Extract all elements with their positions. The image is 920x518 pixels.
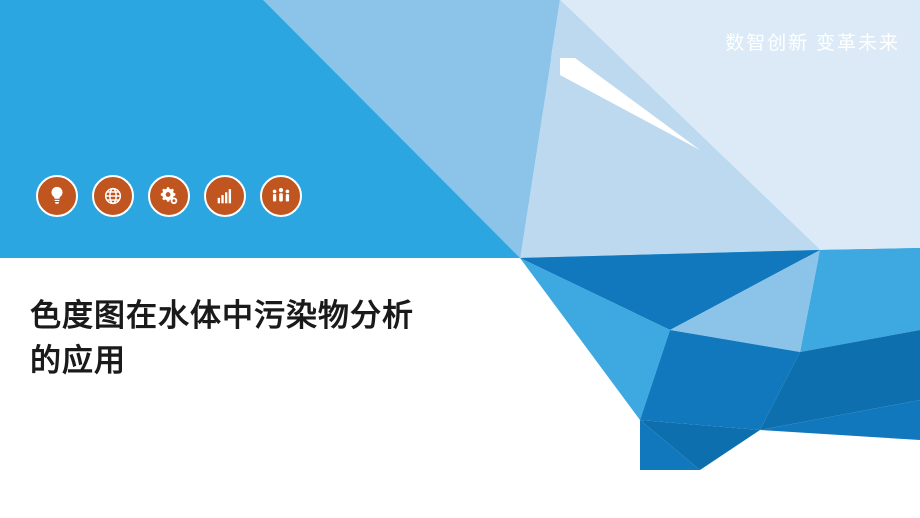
slide-tagline: 数智创新 变革未来 (725, 28, 900, 55)
bottom-strip (0, 514, 920, 518)
page-title-line-1: 色度图在水体中污染物分析 (30, 294, 550, 339)
page-title-line-2: 的应用 (30, 339, 550, 384)
polygon-artwork (0, 0, 920, 518)
globe-icon (92, 175, 134, 217)
gears-icon (148, 175, 190, 217)
lightbulb-gear-icon (36, 175, 78, 217)
people-group-icon (260, 175, 302, 217)
icon-row (36, 175, 302, 217)
slide-title: 色度图在水体中污染物分析 的应用 (30, 294, 550, 384)
bar-chart-icon (204, 175, 246, 217)
presentation-slide: 数智创新 变革未来 (0, 0, 920, 518)
